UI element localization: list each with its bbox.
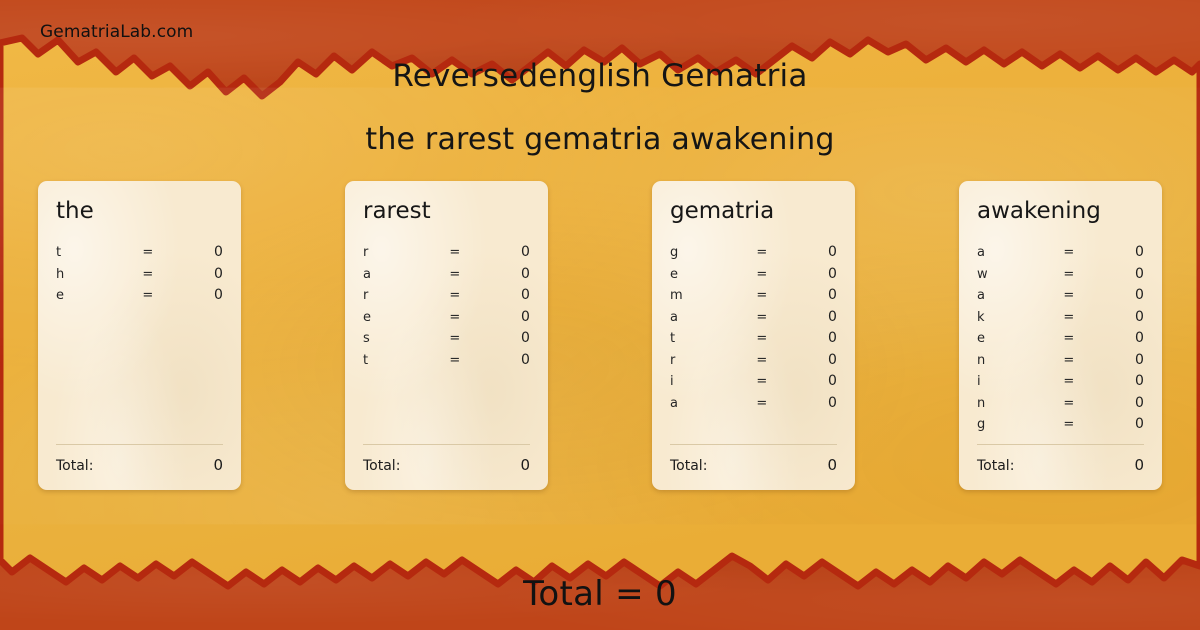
letter-label: n — [977, 350, 1050, 372]
word-card-title: awakening — [977, 199, 1144, 224]
letter-label: t — [363, 350, 436, 372]
letter-value: 0 — [166, 285, 223, 307]
equals-sign: = — [1050, 285, 1087, 307]
letter-row: a=0 — [670, 307, 837, 329]
letter-label: a — [977, 285, 1050, 307]
equals-sign: = — [436, 350, 473, 372]
letter-value: 0 — [473, 307, 530, 329]
equals-sign: = — [1050, 393, 1087, 415]
card-total-label: Total: — [363, 458, 400, 474]
letter-value: 0 — [1087, 350, 1144, 372]
letter-row: m=0 — [670, 285, 837, 307]
letter-label: e — [363, 307, 436, 329]
letter-row: i=0 — [977, 371, 1144, 393]
letter-value: 0 — [1087, 328, 1144, 350]
letter-value: 0 — [780, 328, 837, 350]
letter-row: e=0 — [363, 307, 530, 329]
letter-row: a=0 — [670, 393, 837, 415]
letter-label: r — [670, 350, 743, 372]
letter-label: e — [670, 264, 743, 286]
letter-label: s — [363, 328, 436, 350]
letter-value: 0 — [473, 350, 530, 372]
word-cards-container: thet=0h=0e=0Total:0rarestr=0a=0r=0e=0s=0… — [38, 181, 1162, 490]
letter-label: t — [670, 328, 743, 350]
letter-label: w — [977, 264, 1050, 286]
card-total-row: Total:0 — [56, 445, 223, 474]
letter-row: e=0 — [56, 285, 223, 307]
letter-row: g=0 — [670, 242, 837, 264]
letter-row: e=0 — [977, 328, 1144, 350]
letter-rows: r=0a=0r=0e=0s=0t=0 — [363, 242, 530, 371]
letter-row: r=0 — [363, 242, 530, 264]
card-total-label: Total: — [56, 458, 93, 474]
equals-sign: = — [1050, 371, 1087, 393]
letter-row: a=0 — [363, 264, 530, 286]
letter-row: h=0 — [56, 264, 223, 286]
letter-value: 0 — [780, 285, 837, 307]
letter-label: a — [363, 264, 436, 286]
equals-sign: = — [1050, 328, 1087, 350]
letter-row: t=0 — [56, 242, 223, 264]
letter-rows: t=0h=0e=0 — [56, 242, 223, 307]
word-card-title: gematria — [670, 199, 837, 224]
letter-label: r — [363, 242, 436, 264]
equals-sign: = — [743, 307, 780, 329]
letter-row: s=0 — [363, 328, 530, 350]
letter-value: 0 — [1087, 264, 1144, 286]
letter-row: i=0 — [670, 371, 837, 393]
equals-sign: = — [743, 328, 780, 350]
letter-value: 0 — [473, 328, 530, 350]
equals-sign: = — [1050, 350, 1087, 372]
equals-sign: = — [743, 242, 780, 264]
letter-value: 0 — [780, 350, 837, 372]
letter-value: 0 — [473, 264, 530, 286]
grand-total: Total = 0 — [0, 574, 1200, 614]
letter-value: 0 — [780, 393, 837, 415]
equals-sign: = — [436, 328, 473, 350]
letter-row: r=0 — [363, 285, 530, 307]
card-total-value: 0 — [213, 456, 223, 474]
letter-value: 0 — [1087, 414, 1144, 436]
page-title: Reversedenglish Gematria — [0, 58, 1200, 94]
letter-row: w=0 — [977, 264, 1144, 286]
equals-sign: = — [436, 285, 473, 307]
letter-row: r=0 — [670, 350, 837, 372]
card-total-row: Total:0 — [363, 445, 530, 474]
equals-sign: = — [743, 285, 780, 307]
letter-row: a=0 — [977, 242, 1144, 264]
card-spacer — [363, 371, 530, 436]
letter-value: 0 — [1087, 242, 1144, 264]
letter-label: a — [670, 393, 743, 415]
letter-row: t=0 — [363, 350, 530, 372]
equals-sign: = — [436, 307, 473, 329]
word-card: gematriag=0e=0m=0a=0t=0r=0i=0a=0Total:0 — [652, 181, 855, 490]
letter-rows: a=0w=0a=0k=0e=0n=0i=0n=0g=0 — [977, 242, 1144, 436]
equals-sign: = — [743, 393, 780, 415]
equals-sign: = — [436, 264, 473, 286]
letter-row: g=0 — [977, 414, 1144, 436]
letter-label: n — [977, 393, 1050, 415]
letter-value: 0 — [473, 285, 530, 307]
letter-label: r — [363, 285, 436, 307]
letter-rows: g=0e=0m=0a=0t=0r=0i=0a=0 — [670, 242, 837, 414]
letter-label: a — [977, 242, 1050, 264]
letter-row: a=0 — [977, 285, 1144, 307]
letter-label: k — [977, 307, 1050, 329]
letter-value: 0 — [780, 307, 837, 329]
letter-value: 0 — [473, 242, 530, 264]
letter-label: h — [56, 264, 129, 286]
letter-label: g — [977, 414, 1050, 436]
equals-sign: = — [1050, 307, 1087, 329]
letter-value: 0 — [780, 264, 837, 286]
equals-sign: = — [129, 264, 166, 286]
word-card: rarestr=0a=0r=0e=0s=0t=0Total:0 — [345, 181, 548, 490]
equals-sign: = — [129, 285, 166, 307]
letter-label: e — [977, 328, 1050, 350]
letter-value: 0 — [780, 242, 837, 264]
letter-row: n=0 — [977, 350, 1144, 372]
letter-label: a — [670, 307, 743, 329]
equals-sign: = — [743, 350, 780, 372]
word-card: thet=0h=0e=0Total:0 — [38, 181, 241, 490]
card-spacer — [56, 307, 223, 436]
card-total-row: Total:0 — [670, 445, 837, 474]
card-total-value: 0 — [827, 456, 837, 474]
equals-sign: = — [1050, 414, 1087, 436]
equals-sign: = — [1050, 264, 1087, 286]
letter-label: t — [56, 242, 129, 264]
equals-sign: = — [129, 242, 166, 264]
letter-row: t=0 — [670, 328, 837, 350]
card-total-label: Total: — [977, 458, 1014, 474]
letter-value: 0 — [166, 264, 223, 286]
letter-row: k=0 — [977, 307, 1144, 329]
letter-value: 0 — [780, 371, 837, 393]
word-card-title: the — [56, 199, 223, 224]
card-total-value: 0 — [520, 456, 530, 474]
letter-value: 0 — [166, 242, 223, 264]
equals-sign: = — [436, 242, 473, 264]
card-total-row: Total:0 — [977, 445, 1144, 474]
phrase-subtitle: the rarest gematria awakening — [0, 122, 1200, 157]
equals-sign: = — [743, 264, 780, 286]
letter-label: g — [670, 242, 743, 264]
card-spacer — [670, 414, 837, 436]
letter-row: n=0 — [977, 393, 1144, 415]
letter-label: i — [670, 371, 743, 393]
card-total-value: 0 — [1134, 456, 1144, 474]
card-total-label: Total: — [670, 458, 707, 474]
letter-label: i — [977, 371, 1050, 393]
letter-value: 0 — [1087, 371, 1144, 393]
word-card-title: rarest — [363, 199, 530, 224]
letter-value: 0 — [1087, 307, 1144, 329]
site-logo[interactable]: GematriaLab.com — [40, 22, 193, 42]
equals-sign: = — [743, 371, 780, 393]
letter-value: 0 — [1087, 393, 1144, 415]
letter-label: e — [56, 285, 129, 307]
letter-value: 0 — [1087, 285, 1144, 307]
letter-label: m — [670, 285, 743, 307]
poster-canvas: GematriaLab.com Reversedenglish Gematria… — [0, 0, 1200, 630]
equals-sign: = — [1050, 242, 1087, 264]
word-card: awakeninga=0w=0a=0k=0e=0n=0i=0n=0g=0Tota… — [959, 181, 1162, 490]
letter-row: e=0 — [670, 264, 837, 286]
